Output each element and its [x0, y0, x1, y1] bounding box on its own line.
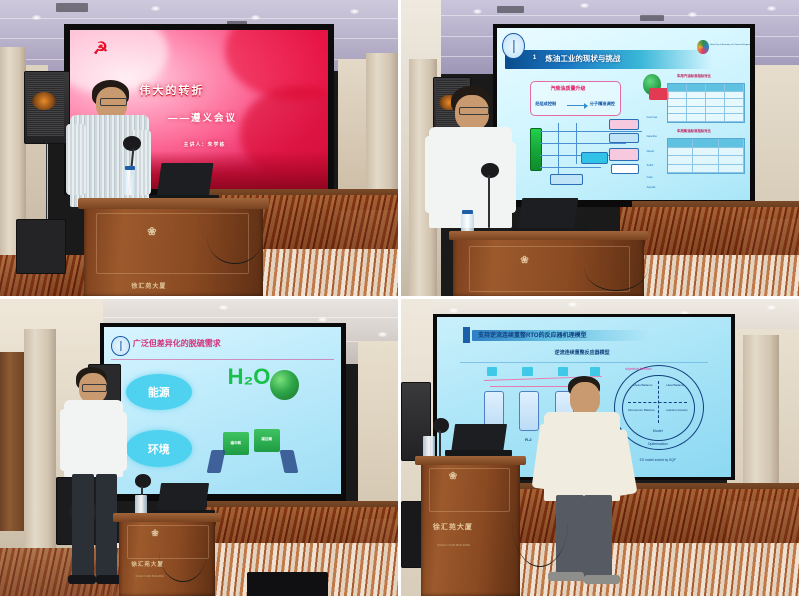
podium-emblem-icon: ❀ — [147, 225, 156, 238]
table2-title: 车用柴油标准指标对比 — [677, 128, 711, 133]
formula-h2o: H₂O — [228, 364, 271, 390]
slide-section-number: 1 — [533, 54, 537, 61]
quadrant-mass-balance: Mass Balance — [628, 383, 657, 387]
standards-table-diesel — [667, 138, 745, 174]
table1-title: 车用汽油标准指标对比 — [677, 73, 711, 78]
podium-emblem-icon: ❀ — [449, 471, 457, 482]
quadrant-heat-balance: Heat Balance — [661, 383, 690, 387]
flowsheet-label: Gasoline — [647, 135, 657, 138]
badge-carbon-peak: 碳达峰 — [254, 429, 280, 452]
callout-title: 汽柴油质量升级 — [550, 85, 585, 92]
quadrant-reaction-kinetics: reaction kinetics — [661, 408, 693, 412]
bubble-environment: 环境 — [126, 430, 192, 467]
bubble-energy-label: 能源 — [148, 384, 170, 400]
globe-icon — [270, 370, 298, 400]
standards-table-gasoline — [667, 83, 745, 123]
slide-presenter: 主讲人：朱学栋 — [183, 141, 225, 148]
slide-subtitle: ——遵义会议 — [168, 110, 237, 124]
room-door — [0, 352, 24, 530]
callout-right-label: 分子精准调控 — [590, 101, 615, 107]
podium-label-en: XUHUI YUAN BUILDING — [437, 543, 470, 547]
flowsheet-label: Coke — [647, 176, 653, 179]
podium-label-cn: 徐汇苑大厦 — [433, 522, 473, 532]
quadrant-momentum-balance: Momentum Balance — [625, 408, 657, 412]
flowsheet-label: Fuel Gas — [647, 116, 658, 119]
slide-title: 广泛但差异化的脱硫需求 — [133, 338, 221, 349]
university-logo-icon — [111, 336, 130, 356]
collage-panel-top-left: ☭ 伟大的转折 ——遵义会议 主讲人：朱学栋 — [0, 0, 398, 296]
podium-emblem-icon: ❀ — [151, 528, 159, 539]
optimisation-label: Optimisation — [634, 442, 681, 446]
podium-label-cn: 徐汇苑大厦 — [131, 281, 166, 290]
flowsheet-label: Sulfur — [647, 164, 654, 167]
lab-logo-label: State Key Laboratory of Chemical Enginee… — [710, 44, 751, 46]
slide-subtitle: 逆流连续重整反应器模型 — [555, 349, 610, 356]
university-logo-icon — [502, 33, 524, 59]
bubble-energy: 能源 — [126, 374, 192, 411]
reactor-label-r2: R-2 — [525, 437, 531, 442]
slide-title: 支持逆流连续重整RTO的反应器机理模型 — [478, 330, 587, 339]
podium-label-en: XUHUI YUAN BUILDING — [135, 575, 164, 578]
badge-carbon-neutral: 碳中和 — [223, 432, 249, 455]
title-marker — [463, 327, 469, 343]
party-emblem-icon: ☭ — [93, 39, 108, 59]
collage-panel-bottom-left: 广泛但差异化的脱硫需求 能源 环境 H₂O 碳中和 碳达峰 — [0, 299, 398, 596]
flowsheet-label: Diesel — [647, 150, 654, 153]
podium-label-cn: 徐汇苑大厦 — [131, 560, 164, 568]
collage-panel-bottom-right: 支持逆流连续重整RTO的反应器机理模型 逆流连续重整反应器模型 R-2 Feed — [401, 299, 799, 596]
flowsheet-label: Asphalt — [647, 186, 656, 189]
collage-panel-top-right: 1 炼油工业的现状与挑战 State Key Laboratory of Che… — [401, 0, 799, 296]
bubble-environment-label: 环境 — [148, 441, 170, 457]
callout-left-label: 烃组成控制 — [535, 101, 556, 107]
lab-logo-icon — [697, 40, 708, 54]
objective-function-label: objective function — [625, 367, 651, 371]
model-label: Model — [640, 429, 675, 433]
podium-emblem-icon: ❀ — [520, 255, 528, 266]
slide-title: 伟大的转折 — [139, 82, 204, 98]
slide-refining-challenges: 1 炼油工业的现状与挑战 State Key Laboratory of Che… — [497, 28, 750, 200]
slide-title: 炼油工业的现状与挑战 — [545, 53, 620, 64]
slide-desulfurization-demand: 广泛但差异化的脱硫需求 能源 环境 H₂O 碳中和 碳达峰 — [104, 327, 341, 493]
photo-collage: ☭ 伟大的转折 ——遵义会议 主讲人：朱学栋 — [0, 0, 799, 596]
